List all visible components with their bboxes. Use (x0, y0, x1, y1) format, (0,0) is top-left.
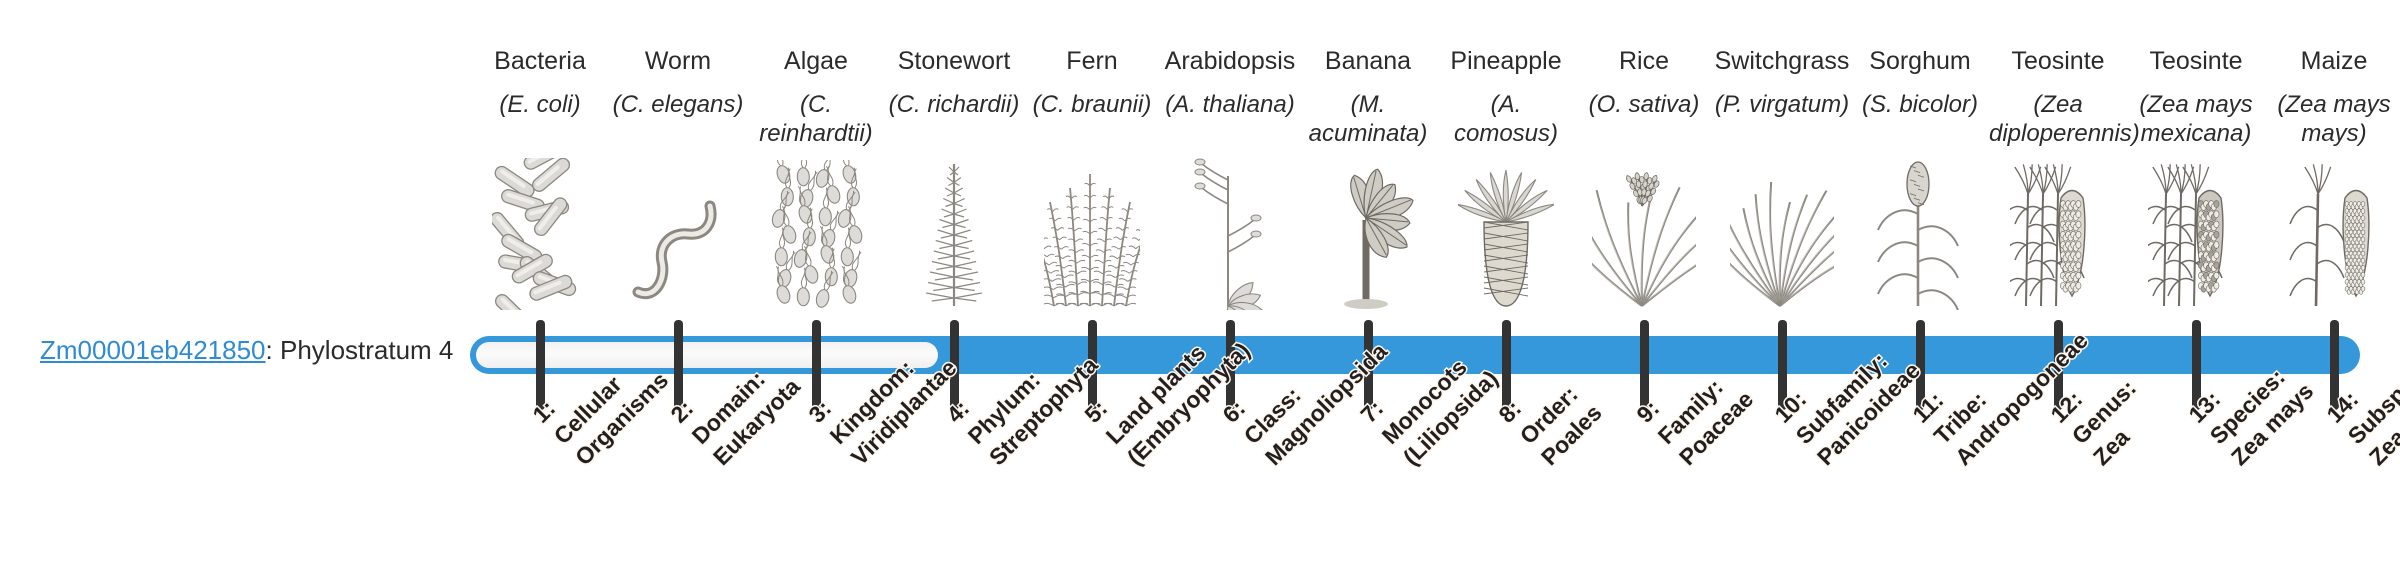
species-scientific-name: (A. comosus) (1437, 90, 1575, 148)
species-column-teosinte-12: Teosinte (Zea mays mexicana) (2127, 46, 2265, 148)
species-column-algae-2: Algae (C. reinhardtii) (747, 46, 885, 148)
species-scientific-name: (E. coli) (471, 90, 609, 119)
species-common-name: Fern (1023, 46, 1161, 76)
species-scientific-name: (C. elegans) (609, 90, 747, 119)
species-column-sorghum-10: Sorghum (S. bicolor) (1851, 46, 1989, 119)
species-common-name: Sorghum (1851, 46, 1989, 76)
species-common-name: Banana (1299, 46, 1437, 76)
bacteria-rods-illustration (471, 170, 609, 310)
species-common-name: Bacteria (471, 46, 609, 76)
species-scientific-name: (C. reinhardtii) (747, 90, 885, 148)
species-column-maize-13: Maize (Zea mays mays) (2265, 46, 2400, 148)
species-scientific-name: (C. braunii) (1023, 90, 1161, 119)
species-scientific-name: (M. acuminata) (1299, 90, 1437, 148)
gene-phylostratum-label: Zm00001eb421850: Phylostratum 4 (40, 337, 453, 363)
species-scientific-name: (O. sativa) (1575, 90, 1713, 119)
species-common-name: Stonewort (885, 46, 1023, 76)
species-scientific-name: (A. thaliana) (1161, 90, 1299, 119)
species-common-name: Teosinte (2127, 46, 2265, 76)
species-scientific-name: (Zea mays mays) (2265, 90, 2400, 148)
species-column-teosinte-11: Teosinte (Zea diploperennis) (1989, 46, 2127, 148)
species-column-switchgrass-9: Switchgrass (P. virgatum) (1713, 46, 1851, 119)
species-common-name: Pineapple (1437, 46, 1575, 76)
gene-label-separator: : (266, 335, 280, 365)
species-column-worm-1: Worm (C. elegans) (609, 46, 747, 119)
gene-id-link[interactable]: Zm00001eb421850 (40, 335, 266, 365)
species-common-name: Worm (609, 46, 747, 76)
species-scientific-name: (P. virgatum) (1713, 90, 1851, 119)
species-scientific-name: (Zea mays mexicana) (2127, 90, 2265, 148)
species-column-fern-4: Fern (C. braunii) (1023, 46, 1161, 119)
species-scientific-name: (C. richardii) (885, 90, 1023, 119)
species-column-rice-8: Rice (O. sativa) (1575, 46, 1713, 119)
species-common-name: Arabidopsis (1161, 46, 1299, 76)
species-column-stonewort-3: Stonewort (C. richardii) (885, 46, 1023, 119)
species-common-name: Rice (1575, 46, 1713, 76)
phylostratum-timeline: Zm00001eb421850: Phylostratum 4 Bacteria… (0, 0, 2400, 580)
species-scientific-name: (Zea diploperennis) (1989, 90, 2127, 148)
species-common-name: Teosinte (1989, 46, 2127, 76)
species-common-name: Algae (747, 46, 885, 76)
species-column-bacteria-0: Bacteria (E. coli) (471, 46, 609, 119)
phylostratum-value: Phylostratum 4 (280, 335, 453, 365)
species-column-arabidopsis-5: Arabidopsis (A. thaliana) (1161, 46, 1299, 119)
species-scientific-name: (S. bicolor) (1851, 90, 1989, 119)
species-common-name: Maize (2265, 46, 2400, 76)
species-column-pineapple-7: Pineapple (A. comosus) (1437, 46, 1575, 148)
species-common-name: Switchgrass (1713, 46, 1851, 76)
species-column-banana-6: Banana (M. acuminata) (1299, 46, 1437, 148)
